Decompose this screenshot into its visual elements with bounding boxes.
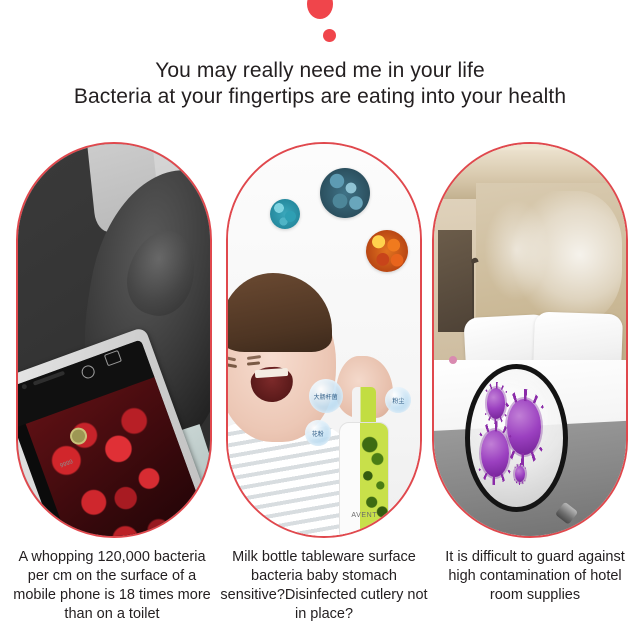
panel-mobile-phone-image: 9999: [18, 144, 210, 536]
panel-baby-bottle[interactable]: AVENT 大肠杆菌 粉尘 花粉: [226, 142, 422, 538]
baby-eye-left: [226, 362, 237, 367]
ceiling-light-strip: [446, 148, 623, 150]
panel-row: 9999: [0, 142, 640, 540]
magnifier-lens: [465, 364, 569, 513]
camera-switch-icon: [104, 350, 122, 366]
headline-line-1: You may really need me in your life: [0, 58, 640, 84]
virus-particle-medium: [481, 430, 509, 477]
baby-bottle: AVENT: [339, 387, 389, 538]
caption-baby-bottle: Milk bottle tableware surface bacteria b…: [218, 548, 430, 624]
panel-hotel-room[interactable]: [432, 142, 628, 538]
decorative-dots: [0, 0, 640, 56]
baby-brow-right: [247, 355, 262, 360]
caption-row: A whopping 120,000 bacteria per cm on th…: [0, 548, 640, 640]
panel-baby-bottle-image: AVENT 大肠杆菌 粉尘 花粉: [228, 144, 420, 536]
baby-brow-left: [226, 356, 237, 362]
virus-particle-tiny: [515, 466, 525, 483]
microbe-teal-icon: [270, 199, 300, 229]
bottle-brand-label: AVENT: [342, 512, 386, 519]
panel-mobile-phone[interactable]: 9999: [16, 142, 212, 538]
bottle-germs: [340, 423, 388, 538]
bubble-ecoli: 大肠杆菌: [309, 379, 343, 413]
bubble-ecoli-label: 大肠杆菌: [314, 392, 338, 401]
red-dot-large-icon: [307, 0, 333, 19]
wall-panel-dark: [438, 230, 473, 332]
baby-eye-right: [247, 361, 260, 365]
bubble-pollen-label: 花粉: [312, 429, 324, 438]
caption-mobile-phone: A whopping 120,000 bacteria per cm on th…: [6, 548, 218, 624]
front-camera-icon: [21, 384, 27, 390]
flash-icon: [80, 364, 97, 381]
bubble-pollen: 花粉: [305, 420, 331, 446]
wall-art: [511, 191, 622, 324]
red-dot-small-icon: [323, 29, 336, 42]
headline-line-2: Bacteria at your fingertips are eating i…: [0, 84, 640, 110]
headline: You may really need me in your life Bact…: [0, 58, 640, 110]
caption-hotel-room: It is difficult to guard against high co…: [432, 548, 638, 605]
bubble-dust-label: 粉尘: [392, 396, 404, 405]
bottle-body: [339, 422, 389, 538]
panel-hotel-room-image: [434, 144, 626, 536]
microbe-blue-icon: [320, 168, 370, 218]
magnifying-glass: [465, 364, 569, 513]
